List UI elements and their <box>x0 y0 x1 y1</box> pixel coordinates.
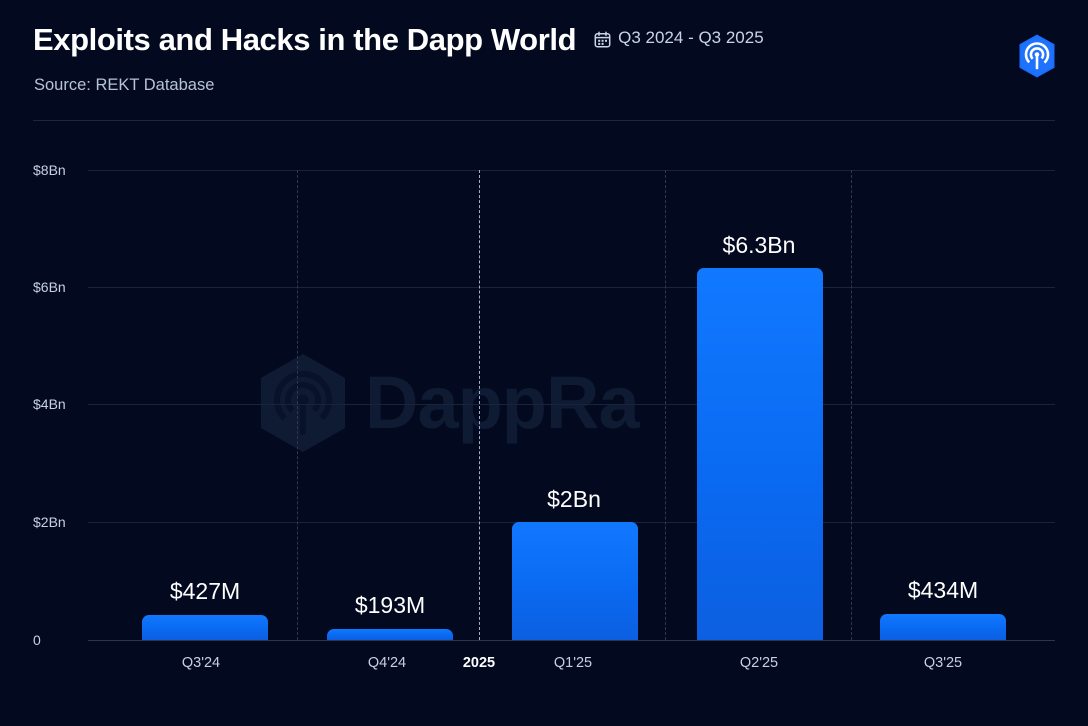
dappradar-radar-icon <box>255 352 351 454</box>
quarter-divider-3 <box>851 170 852 640</box>
watermark: DappRa <box>255 352 639 454</box>
chart-screenshot: Exploits and Hacks in the Dapp World Q3 … <box>0 0 1088 726</box>
ytick-label-8bn: $8Bn <box>33 162 81 178</box>
bar-value-label-q4-24: $193M <box>355 592 425 619</box>
ytick-label-4bn: $4Bn <box>33 396 81 412</box>
bar-q1-25[interactable] <box>512 522 638 640</box>
watermark-text: DappRa <box>365 366 639 440</box>
gridline-4bn <box>88 404 1055 405</box>
bar-q3-25[interactable] <box>880 614 1006 640</box>
bar-q4-24[interactable] <box>327 629 453 640</box>
xtick-label-q3-25: Q3'25 <box>924 655 962 671</box>
gridline-6bn <box>88 287 1055 288</box>
xtick-label-q3-24: Q3'24 <box>182 655 220 671</box>
xtick-label-year-2025: 2025 <box>463 655 495 671</box>
bar-value-label-q2-25: $6.3Bn <box>723 232 796 259</box>
year-divider-2025 <box>479 170 480 640</box>
gridline-baseline <box>88 640 1055 641</box>
quarter-divider-2 <box>665 170 666 640</box>
bar-q2-25[interactable] <box>697 268 823 640</box>
ytick-label-2bn: $2Bn <box>33 514 81 530</box>
xtick-label-q4-24: Q4'24 <box>368 655 406 671</box>
xtick-label-q1-25: Q1'25 <box>554 655 592 671</box>
ytick-label-0: 0 <box>33 632 81 648</box>
bar-value-label-q3-24: $427M <box>170 578 240 605</box>
gridline-8bn <box>88 170 1055 171</box>
ytick-label-6bn: $6Bn <box>33 279 81 295</box>
bar-value-label-q1-25: $2Bn <box>547 486 601 513</box>
quarter-divider-1 <box>297 170 298 640</box>
bar-value-label-q3-25: $434M <box>908 577 978 604</box>
bar-q3-24[interactable] <box>142 615 268 640</box>
chart-plot-area: DappRa $8Bn $6Bn $4Bn $2Bn 0 $427M $193M… <box>0 0 1088 726</box>
xtick-label-q2-25: Q2'25 <box>740 655 778 671</box>
